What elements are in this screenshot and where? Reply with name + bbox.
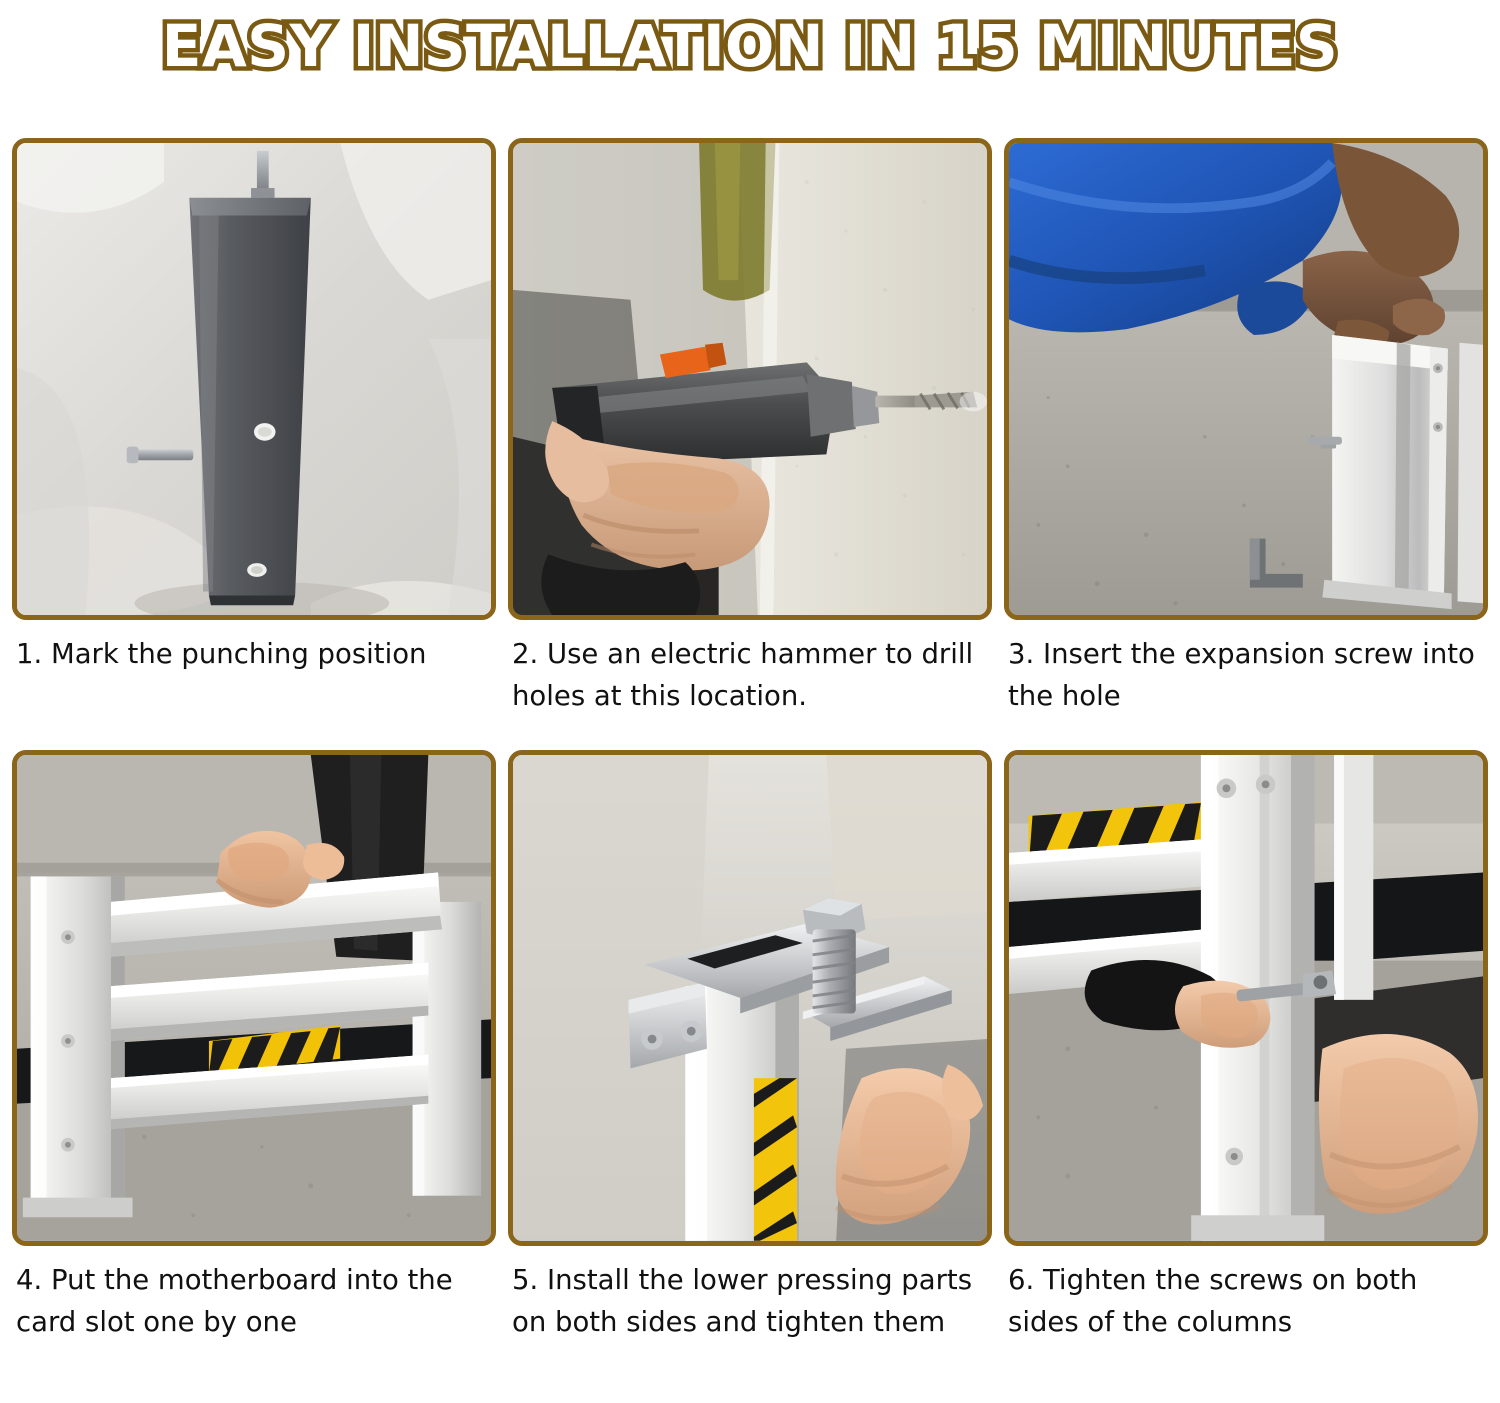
step-caption-4: 4. Put the motherboard into the card slo… <box>12 1246 496 1376</box>
steps-grid: 1. Mark the punching position <box>12 138 1488 1376</box>
step-caption-3: 3. Insert the expansion screw into the h… <box>1004 620 1488 750</box>
installation-guide-page: EASY INSTALLATION IN 15 MINUTES <box>0 0 1500 1403</box>
banner-title: EASY INSTALLATION IN 15 MINUTES <box>162 12 1338 80</box>
step-card-5: 5. Install the lower pressing parts on b… <box>508 750 992 1376</box>
step-card-2: 2. Use an electric hammer to drill holes… <box>508 138 992 750</box>
photo-tighten-screws <box>1004 750 1488 1246</box>
photo-insert-boards-art <box>17 755 491 1241</box>
photo-install-pressing-parts <box>508 750 992 1246</box>
step-caption-5: 5. Install the lower pressing parts on b… <box>508 1246 992 1376</box>
photo-mark-punching-position <box>12 138 496 620</box>
photo-drill-holes-art <box>513 143 987 615</box>
photo-mark-punching-position-art <box>17 143 491 615</box>
step-caption-2: 2. Use an electric hammer to drill holes… <box>508 620 992 750</box>
photo-insert-boards <box>12 750 496 1246</box>
step-card-6: 6. Tighten the screws on both sides of t… <box>1004 750 1488 1376</box>
photo-insert-expansion-screw <box>1004 138 1488 620</box>
photo-tighten-screws-art <box>1009 755 1483 1241</box>
step-card-1: 1. Mark the punching position <box>12 138 496 750</box>
step-card-3: 3. Insert the expansion screw into the h… <box>1004 138 1488 750</box>
header-banner: EASY INSTALLATION IN 15 MINUTES <box>0 0 1500 92</box>
photo-install-pressing-parts-art <box>513 755 987 1241</box>
photo-drill-holes <box>508 138 992 620</box>
photo-insert-expansion-screw-art <box>1009 143 1483 615</box>
step-card-4: 4. Put the motherboard into the card slo… <box>12 750 496 1376</box>
step-caption-6: 6. Tighten the screws on both sides of t… <box>1004 1246 1488 1376</box>
step-caption-1: 1. Mark the punching position <box>12 620 496 750</box>
